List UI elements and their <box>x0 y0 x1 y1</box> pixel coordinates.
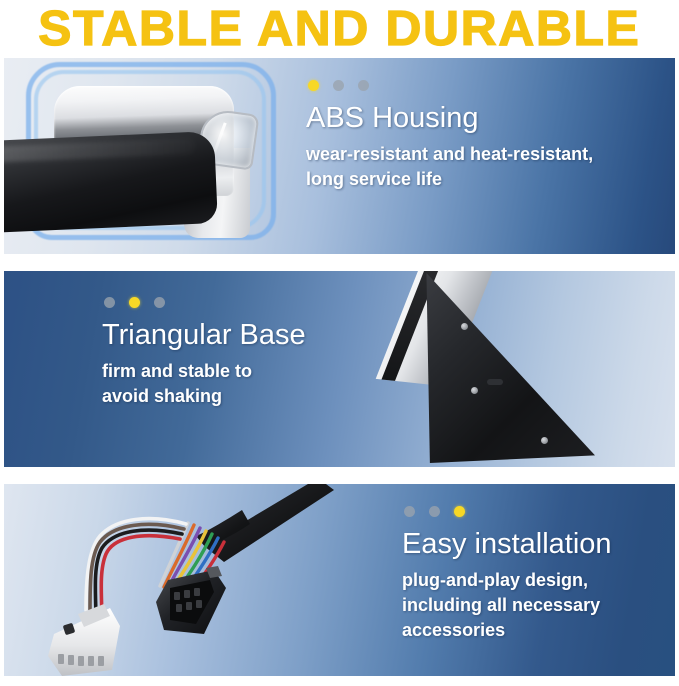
step-dot-1[interactable] <box>404 506 415 517</box>
white-connector <box>48 604 120 676</box>
panel-2-subline-line-1: firm and stable to <box>102 359 306 384</box>
panel-3-text-block: Easy installation plug-and-play design, … <box>402 506 612 643</box>
step-dot-2[interactable] <box>429 506 440 517</box>
step-dot-2[interactable] <box>333 80 344 91</box>
page-title: STABLE AND DURABLE <box>34 4 644 54</box>
step-dots-indicator-2 <box>102 297 306 308</box>
panel-3-subline-line-2: including all necessary <box>402 593 612 618</box>
panel-2-text-block: Triangular Base firm and stable to avoid… <box>102 297 306 409</box>
wiring-harness-svg <box>18 484 338 676</box>
panel-1-headline: ABS Housing <box>306 100 593 136</box>
panel-2-subline-line-2: avoid shaking <box>102 384 306 409</box>
step-dot-3-active[interactable] <box>454 506 465 517</box>
screw-icon-2 <box>471 387 478 394</box>
panel-3-subline-line-1: plug-and-play design, <box>402 568 612 593</box>
panel-3-subline: plug-and-play design, including all nece… <box>402 568 612 643</box>
black-connector <box>156 566 226 634</box>
mirror-cap-image <box>4 58 304 254</box>
feature-panel-triangular-base: Triangular Base firm and stable to avoid… <box>4 271 675 467</box>
screw-icon-1 <box>461 323 468 330</box>
panel-1-subline-line-1: wear-resistant and heat-resistant, <box>306 142 593 167</box>
panel-2-subline: firm and stable to avoid shaking <box>102 359 306 409</box>
step-dot-3[interactable] <box>154 297 165 308</box>
vent-slot-shape <box>487 379 503 385</box>
panel-1-subline-line-2: long service life <box>306 167 593 192</box>
triangular-base-shape <box>423 273 595 463</box>
step-dots-indicator-1 <box>306 80 593 91</box>
panel-1-subline: wear-resistant and heat-resistant, long … <box>306 142 593 192</box>
triangular-base-image <box>375 271 675 467</box>
panel-3-headline: Easy installation <box>402 526 612 562</box>
step-dot-1[interactable] <box>104 297 115 308</box>
panel-2-headline: Triangular Base <box>102 317 306 353</box>
panel-1-text-block: ABS Housing wear-resistant and heat-resi… <box>306 80 593 192</box>
feature-panel-list: ABS Housing wear-resistant and heat-resi… <box>0 58 679 676</box>
header-banner: STABLE AND DURABLE <box>0 0 679 58</box>
panel-3-subline-line-3: accessories <box>402 618 612 643</box>
step-dots-indicator-3 <box>402 506 612 517</box>
step-dot-2-active[interactable] <box>129 297 140 308</box>
feature-panel-abs-housing: ABS Housing wear-resistant and heat-resi… <box>4 58 675 254</box>
wiring-harness-image <box>18 484 338 676</box>
mirror-body-shape <box>4 131 218 233</box>
screw-icon-3 <box>541 437 548 444</box>
feature-panel-easy-installation: Easy installation plug-and-play design, … <box>4 484 675 676</box>
step-dot-3[interactable] <box>358 80 369 91</box>
step-dot-1-active[interactable] <box>308 80 319 91</box>
